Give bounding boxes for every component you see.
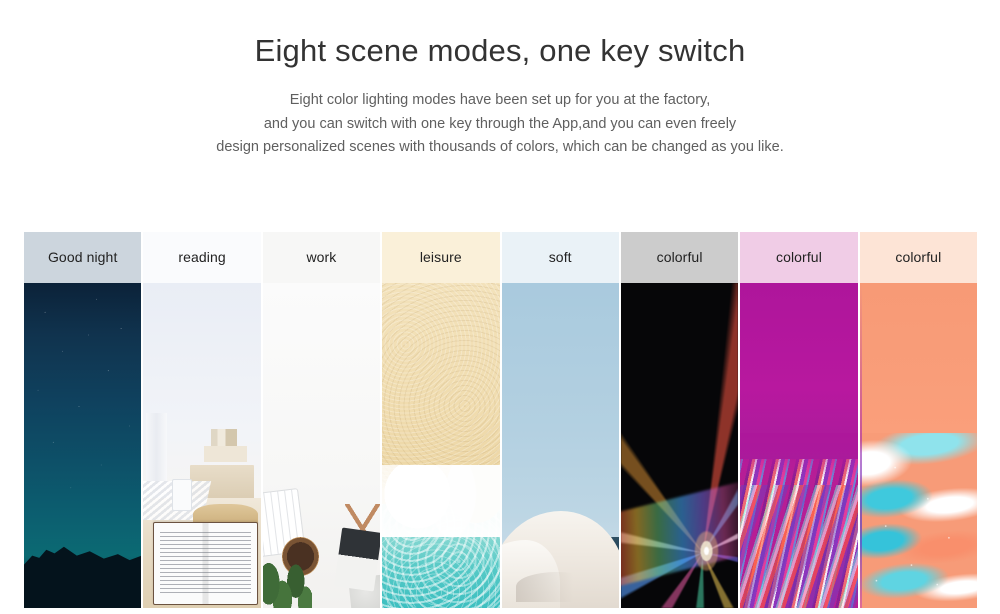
open-book bbox=[153, 522, 258, 605]
subtitle-line-3: design personalized scenes with thousand… bbox=[0, 136, 1000, 160]
scene-label-work: work bbox=[263, 232, 380, 283]
clipboard bbox=[334, 528, 380, 591]
white-droplets bbox=[860, 413, 977, 608]
left-edge-glow bbox=[860, 283, 862, 608]
scene-card-colorful-marble[interactable]: colorful bbox=[860, 232, 977, 608]
magenta-fade bbox=[740, 433, 857, 479]
scene-card-leisure[interactable]: leisure bbox=[382, 232, 499, 608]
scene-mode-grid: Good night reading work bbox=[24, 232, 977, 608]
scene-label-good-night: Good night bbox=[24, 232, 141, 283]
sand-texture bbox=[382, 283, 499, 488]
scene-card-colorful-prism[interactable]: colorful bbox=[621, 232, 738, 608]
page-subtitle: Eight color lighting modes have been set… bbox=[0, 89, 1000, 160]
scene-label-colorful-marble: colorful bbox=[860, 232, 977, 283]
green-leaves bbox=[263, 563, 312, 609]
scene-image-prism-rays bbox=[621, 283, 738, 608]
book-text-lines bbox=[160, 532, 251, 594]
sea-foam bbox=[382, 465, 499, 537]
scene-card-soft[interactable]: soft bbox=[502, 232, 619, 608]
scene-label-colorful-magenta: colorful bbox=[740, 232, 857, 283]
coral-field bbox=[860, 283, 977, 433]
scene-card-work[interactable]: work bbox=[263, 232, 380, 608]
page-title: Eight scene modes, one key switch bbox=[0, 30, 1000, 72]
scene-label-soft: soft bbox=[502, 232, 619, 283]
scene-image-reading-desk bbox=[143, 283, 260, 608]
scene-label-colorful-prism: colorful bbox=[621, 232, 738, 283]
subtitle-line-2: and you can switch with one key through … bbox=[0, 113, 1000, 137]
light-trails-secondary bbox=[740, 485, 857, 609]
scene-card-colorful-magenta[interactable]: colorful bbox=[740, 232, 857, 608]
scene-image-dunes bbox=[502, 283, 619, 608]
light-source-core bbox=[694, 530, 720, 572]
upper-shelf bbox=[204, 446, 246, 462]
dune-shadow bbox=[516, 572, 598, 601]
scene-card-good-night[interactable]: Good night bbox=[24, 232, 141, 608]
scene-image-work-desk bbox=[263, 283, 380, 608]
white-cup bbox=[172, 479, 193, 510]
page-header: Eight scene modes, one key switch Eight … bbox=[0, 0, 1000, 160]
scene-image-starry-night bbox=[24, 283, 141, 608]
subtitle-line-1: Eight color lighting modes have been set… bbox=[0, 89, 1000, 113]
scene-card-reading[interactable]: reading bbox=[143, 232, 260, 608]
scene-label-reading: reading bbox=[143, 232, 260, 283]
scene-image-light-trails bbox=[740, 283, 857, 608]
scene-image-marble-swirl bbox=[860, 283, 977, 608]
scene-label-leisure: leisure bbox=[382, 232, 499, 283]
scene-image-beach bbox=[382, 283, 499, 608]
